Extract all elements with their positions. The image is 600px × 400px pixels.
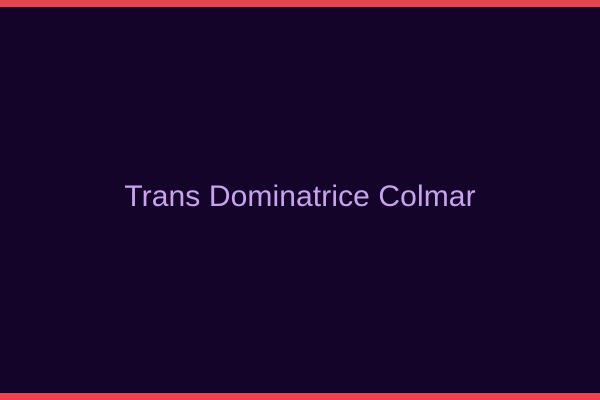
top-accent-bar [0, 0, 600, 7]
placeholder-banner: Trans Dominatrice Colmar [0, 0, 600, 400]
bottom-accent-bar [0, 393, 600, 400]
banner-title-text: Trans Dominatrice Colmar [112, 180, 487, 215]
